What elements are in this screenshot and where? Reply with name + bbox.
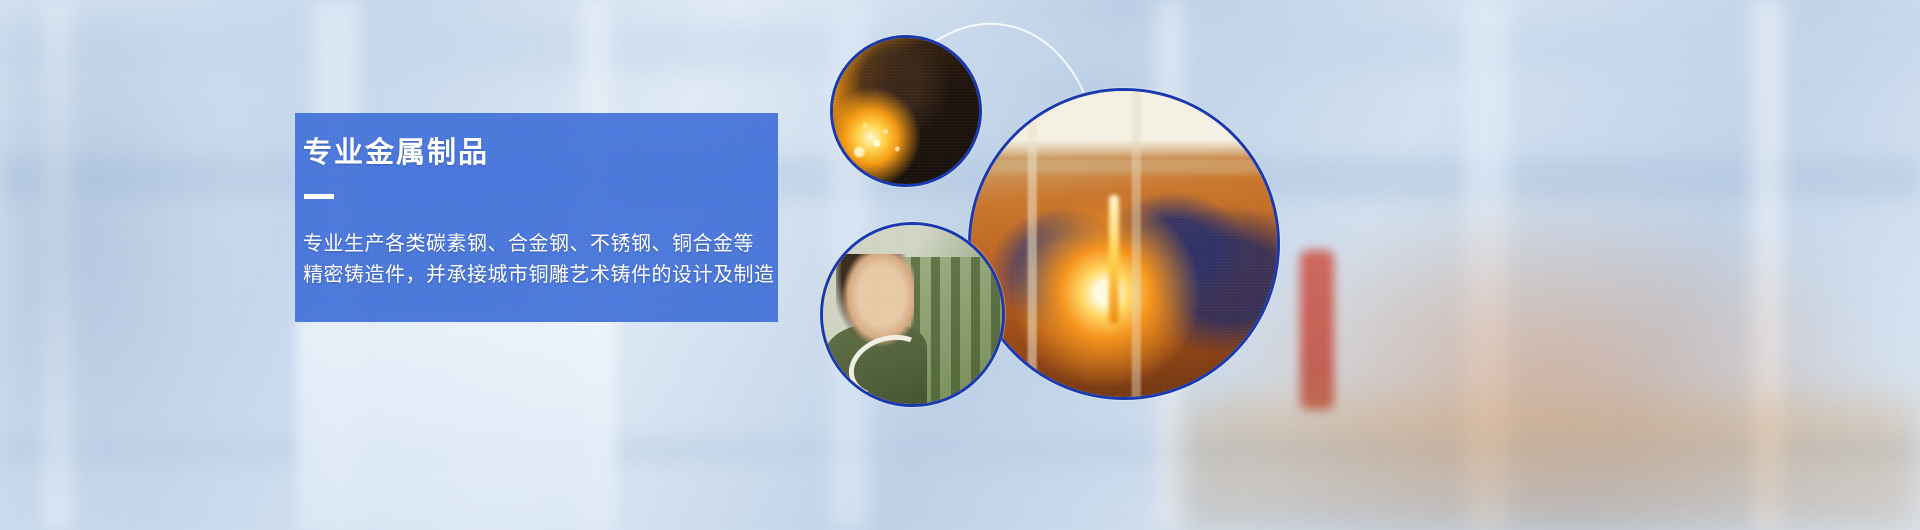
foundry-pour-photo bbox=[968, 88, 1280, 400]
molten-metal-stream bbox=[1109, 195, 1119, 324]
page-title: 专业金属制品 bbox=[303, 139, 489, 168]
title-divider bbox=[304, 194, 334, 199]
foundry-pour-photo-beams bbox=[971, 91, 1277, 397]
banner-description-line-1: 专业生产各类碳素钢、合金钢、不锈钢、铜合金等 bbox=[303, 229, 775, 260]
banner-description-line-2: 精密铸造件，并承接城市铜雕艺术铸件的设计及制造 bbox=[303, 260, 775, 291]
photo-collage bbox=[0, 0, 1920, 530]
banner-description: 专业生产各类碳素钢、合金钢、不锈钢、铜合金等 精密铸造件，并承接城市铜雕艺术铸件… bbox=[303, 229, 775, 291]
headline-panel-content: 专业金属制品 专业生产各类碳素钢、合金钢、不锈钢、铜合金等 精密铸造件，并承接城… bbox=[295, 113, 855, 322]
hero-banner: 专业金属制品 专业生产各类碳素钢、合金钢、不锈钢、铜合金等 精密铸造件，并承接城… bbox=[0, 0, 1920, 530]
